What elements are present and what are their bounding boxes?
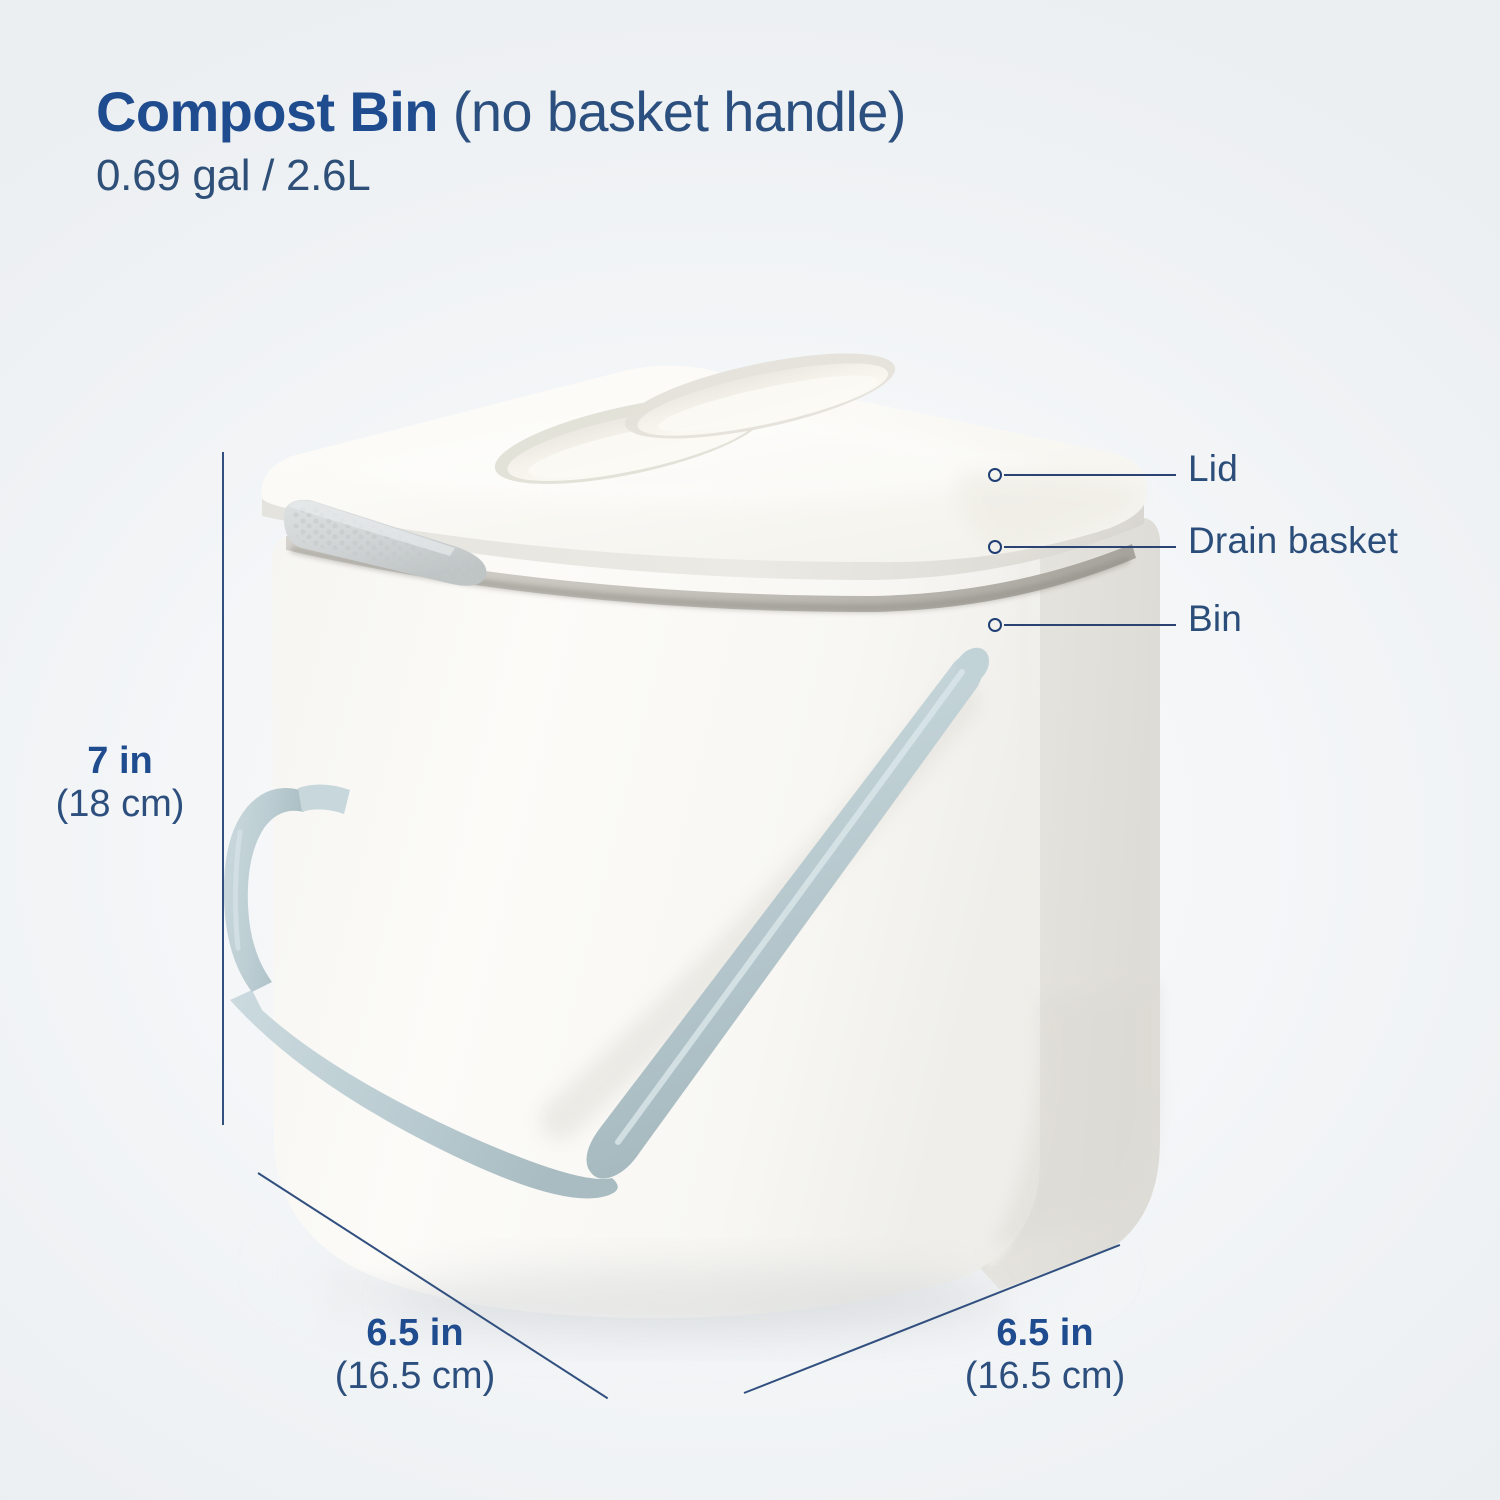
capacity-subtitle: 0.69 gal / 2.6L [96, 152, 1346, 200]
handle-left-mount [298, 784, 350, 814]
carry-handle [224, 641, 996, 1198]
callout-label-drain-basket: Drain basket [1188, 522, 1398, 559]
bin-corner-highlight [980, 548, 1036, 1268]
height-value-metric: (18 cm) [30, 783, 210, 827]
page-title: Compost Bin (no basket handle) [96, 82, 1346, 142]
handle-elbow [230, 990, 618, 1198]
callout-leader-line [1004, 546, 1176, 548]
product-dimension-diagram: Compost Bin (no basket handle) 0.69 gal … [0, 0, 1500, 1500]
drain-basket-rim-shadow [290, 546, 1130, 612]
height-dimension-label: 7 in (18 cm) [30, 740, 210, 826]
bin-right-face [900, 517, 1160, 1290]
width-value-metric: (16.5 cm) [270, 1355, 560, 1399]
callout-leader-line [1004, 474, 1176, 476]
callout-marker-icon [988, 540, 1002, 554]
callout-leader-line [1004, 624, 1176, 626]
lid-finger-slots [488, 336, 902, 502]
lid-finger-slot-back [618, 336, 901, 456]
lid-top [262, 366, 1147, 562]
width-dimension-label: 6.5 in (16.5 cm) [270, 1312, 560, 1398]
depth-value-imperial: 6.5 in [900, 1312, 1190, 1355]
lid-edge [262, 492, 1144, 580]
height-dimension-line [222, 452, 224, 1125]
depth-value-metric: (16.5 cm) [900, 1355, 1190, 1399]
lid-finger-slot-front [488, 378, 772, 502]
page-title-main: Compost Bin [96, 80, 438, 143]
callout-label-lid: Lid [1188, 450, 1238, 487]
handle-left-arm [224, 788, 304, 992]
product-illustration [0, 0, 1500, 1500]
header-block: Compost Bin (no basket handle) 0.69 gal … [96, 82, 1346, 201]
lid-grip-tab [284, 500, 487, 586]
lid-top-highlight [330, 398, 1060, 506]
depth-dimension-label: 6.5 in (16.5 cm) [900, 1312, 1190, 1398]
handle-tip [948, 641, 996, 691]
callout-marker-icon [988, 468, 1002, 482]
bin-bottom-shade [990, 980, 1158, 1250]
callout-label-bin: Bin [1188, 600, 1242, 637]
bin-front-face [272, 536, 1040, 1318]
handle-bar [587, 654, 987, 1179]
lid-right-shade [958, 472, 1146, 552]
width-value-imperial: 6.5 in [270, 1312, 560, 1355]
height-value-imperial: 7 in [30, 740, 210, 783]
page-title-parenthetical: (no basket handle) [438, 80, 906, 143]
callout-marker-icon [988, 618, 1002, 632]
